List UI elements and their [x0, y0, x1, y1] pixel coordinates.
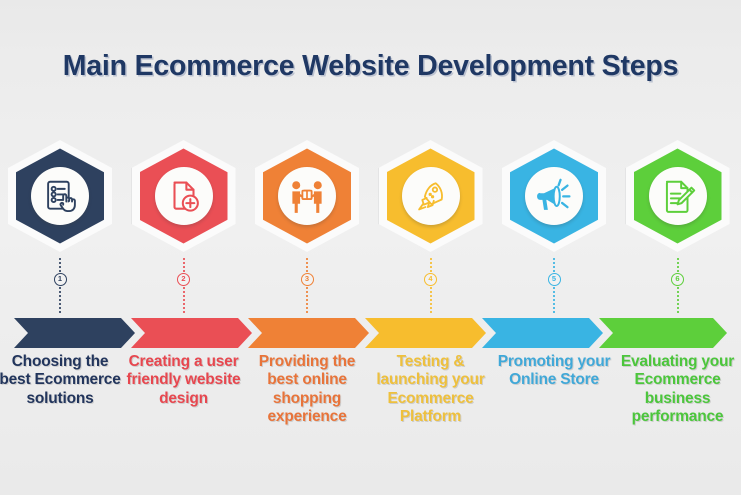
step-caption-1: Choosing the best Ecommerce solutions	[0, 353, 122, 408]
step-arrow-bar-1[interactable]	[14, 318, 135, 348]
step-number-badge: 3	[301, 273, 314, 286]
step-column-3: 3Providing the best online shopping expe…	[247, 0, 367, 495]
step-column-4: 4Testing & launching your Ecommerce Plat…	[371, 0, 491, 495]
step-column-5: 5Promoting your Online Store	[494, 0, 614, 495]
dotted-line-top	[59, 258, 61, 272]
step-number-badge: 2	[177, 273, 190, 286]
step-badge-4[interactable]	[379, 140, 483, 252]
checklist-pointer-icon	[41, 177, 79, 215]
dotted-line-top	[430, 258, 432, 272]
step-badge-5[interactable]	[502, 140, 606, 252]
step-column-6: 6Evaluating your Ecommerce business perf…	[618, 0, 738, 495]
step-badge-3[interactable]	[255, 140, 359, 252]
step-connector-5: 5	[543, 258, 565, 320]
step-arrow-bar-6[interactable]	[599, 318, 727, 348]
step-number-badge: 4	[424, 273, 437, 286]
dotted-line-top	[677, 258, 679, 272]
step-connector-6: 6	[667, 258, 689, 320]
step-number-badge: 1	[54, 273, 67, 286]
icon-disc	[155, 167, 213, 225]
step-badge-1[interactable]	[8, 140, 112, 252]
step-badge-2[interactable]	[132, 140, 236, 252]
document-add-icon	[165, 177, 203, 215]
icon-disc	[649, 167, 707, 225]
step-column-2: 2Creating a user friendly website design	[124, 0, 244, 495]
step-caption-2: Creating a user friendly website design	[122, 353, 246, 408]
dotted-line-bottom	[306, 287, 308, 313]
dotted-line-bottom	[553, 287, 555, 313]
icon-disc	[402, 167, 460, 225]
step-caption-4: Testing & launching your Ecommerce Platf…	[369, 353, 493, 426]
step-caption-3: Providing the best online shopping exper…	[245, 353, 369, 426]
icon-disc	[525, 167, 583, 225]
step-arrow-bar-3[interactable]	[248, 318, 369, 348]
icon-disc	[278, 167, 336, 225]
step-connector-1: 1	[49, 258, 71, 320]
dotted-line-top	[183, 258, 185, 272]
infographic-canvas: Main Ecommerce Website Development Steps…	[0, 0, 741, 495]
step-caption-5: Promoting your Online Store	[492, 353, 616, 390]
step-column-1: 1Choosing the best Ecommerce solutions	[0, 0, 120, 495]
step-number-badge: 6	[671, 273, 684, 286]
step-arrow-bar-4[interactable]	[365, 318, 486, 348]
step-arrow-bar-5[interactable]	[482, 318, 603, 348]
step-connector-2: 2	[173, 258, 195, 320]
dotted-line-bottom	[677, 287, 679, 313]
step-connector-4: 4	[420, 258, 442, 320]
step-caption-6: Evaluating your Ecommerce business perfo…	[616, 353, 740, 426]
dotted-line-top	[553, 258, 555, 272]
dotted-line-bottom	[59, 287, 61, 313]
icon-disc	[31, 167, 89, 225]
dotted-line-bottom	[430, 287, 432, 313]
package-handover-icon	[287, 177, 327, 215]
step-connector-3: 3	[296, 258, 318, 320]
step-number-badge: 5	[548, 273, 561, 286]
dotted-line-bottom	[183, 287, 185, 313]
step-badge-6[interactable]	[626, 140, 730, 252]
dotted-line-top	[306, 258, 308, 272]
megaphone-icon	[534, 177, 574, 215]
step-arrow-bar-2[interactable]	[131, 318, 252, 348]
document-pencil-icon	[659, 177, 697, 215]
rocket-icon	[412, 177, 450, 215]
